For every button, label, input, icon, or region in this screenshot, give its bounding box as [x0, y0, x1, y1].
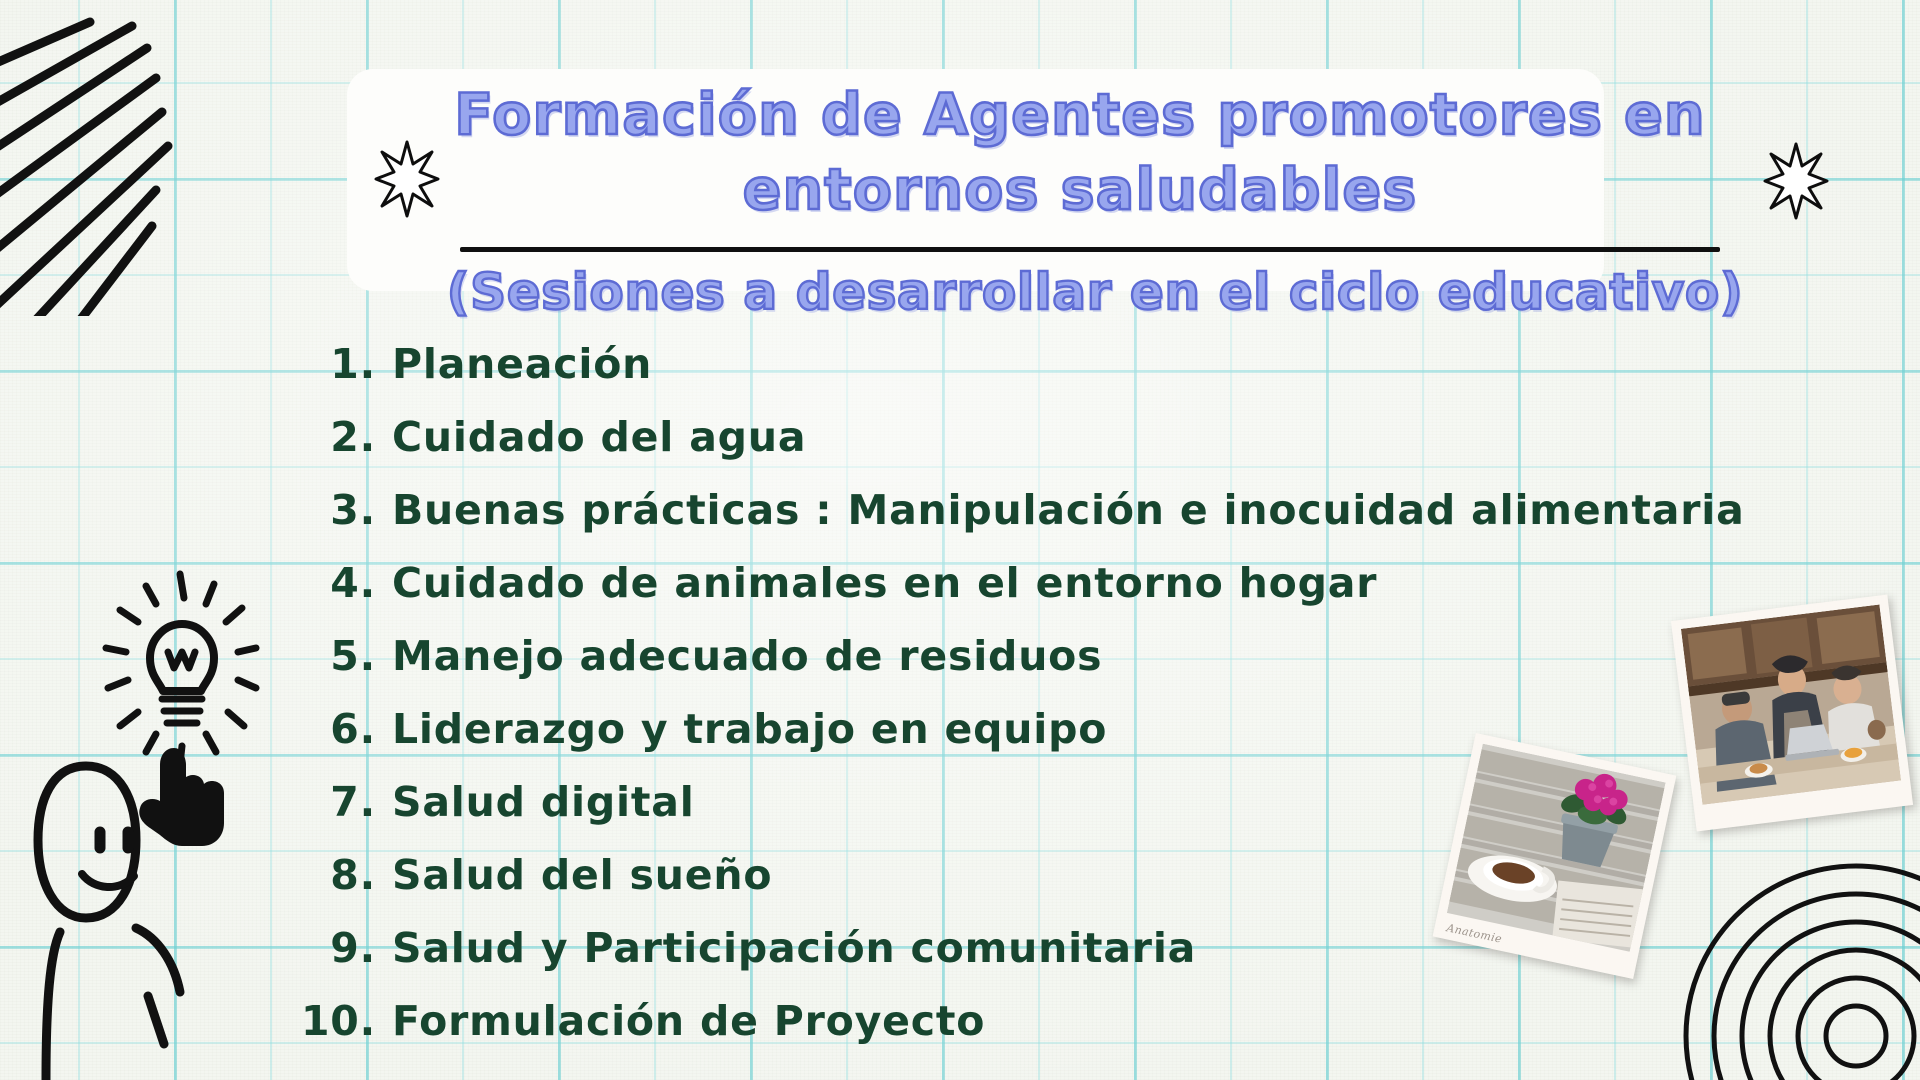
diagonal-lines-decoration — [0, 0, 210, 316]
stick-figure-with-lightbulb-doodle — [28, 560, 268, 1080]
list-item-number: 7. — [300, 778, 392, 826]
cafe-workspace-photo — [1671, 595, 1913, 832]
list-item-number: 3. — [300, 486, 392, 534]
list-item-label: Liderazgo y trabajo en equipo — [392, 705, 1760, 753]
list-item-number: 6. — [300, 705, 392, 753]
list-item-label: Cuidado del agua — [392, 413, 1760, 461]
list-item-number: 8. — [300, 851, 392, 899]
eight-point-star-icon — [1763, 142, 1829, 220]
list-item-number: 5. — [300, 632, 392, 680]
cafe-workspace-photo-image — [1681, 605, 1901, 805]
page-title-line-1: Formación de Agentes promotores en — [430, 78, 1730, 153]
list-item: 4. Cuidado de animales en el entorno hog… — [300, 559, 1760, 632]
list-item: 5. Manejo adecuado de residuos — [300, 632, 1760, 705]
list-item: 2. Cuidado del agua — [300, 413, 1760, 486]
slide-canvas: Formación de Agentes promotores en entor… — [0, 0, 1920, 1080]
list-item-number: 2. — [300, 413, 392, 461]
list-item: 1. Planeación — [300, 340, 1760, 413]
list-item-label: Planeación — [392, 340, 1760, 388]
list-item-number: 9. — [300, 924, 392, 972]
list-item-number: 1. — [300, 340, 392, 388]
list-item-label: Formulación de Proyecto — [392, 997, 1760, 1045]
page-title-line-2: entornos saludables — [430, 153, 1730, 228]
title-divider — [460, 247, 1720, 252]
page-title: Formación de Agentes promotores en entor… — [430, 78, 1730, 228]
list-item-label: Buenas prácticas : Manipulación e inocui… — [392, 486, 1760, 534]
list-item: 3. Buenas prácticas : Manipulación e ino… — [300, 486, 1760, 559]
page-subtitle: (Sesiones a desarrollar en el ciclo educ… — [360, 262, 1830, 322]
list-item-number: 10. — [300, 997, 392, 1045]
coffee-and-flowers-photo-image — [1447, 744, 1666, 952]
list-item: 10. Formulación de Proyecto — [300, 997, 1760, 1070]
list-item-number: 4. — [300, 559, 392, 607]
session-list: 1. Planeación 2. Cuidado del agua 3. Bue… — [300, 340, 1760, 1070]
coffee-and-flowers-photo: Anatomie — [1433, 733, 1677, 979]
list-item-label: Cuidado de animales en el entorno hogar — [392, 559, 1760, 607]
list-item-label: Manejo adecuado de residuos — [392, 632, 1760, 680]
